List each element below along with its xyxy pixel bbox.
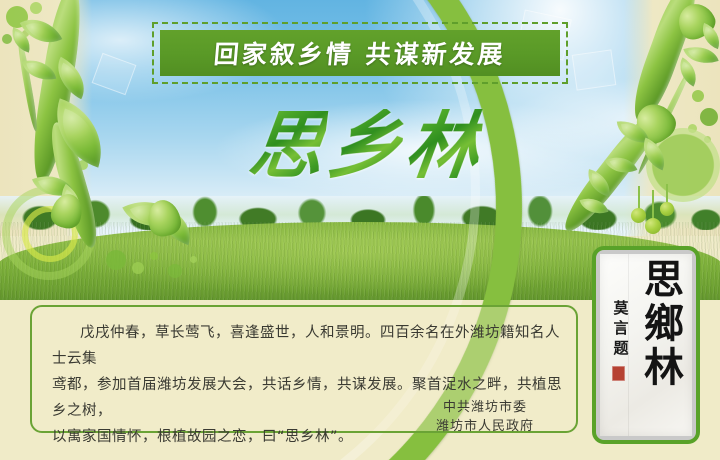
signature-line-1: 中共潍坊市委 [400, 398, 570, 417]
calligraphy-paper: 思鄉林 莫言题 [600, 254, 692, 436]
main-title-char-3: 林 [401, 109, 484, 183]
berry-stalk [666, 184, 668, 204]
main-title: 思 乡 林 [250, 104, 480, 188]
berry-decor [660, 202, 674, 216]
poster-canvas: 回家叙乡情 共谋新发展 思 乡 林 戊戌仲春，草长莺飞，喜逢盛世，人和景明。四百… [0, 0, 720, 460]
body-line-1: 戊戌仲春，草长莺飞，喜逢盛世，人和景明。四百余名在外潍坊籍知名人士云集 [52, 320, 564, 372]
berry-stalk [652, 190, 654, 220]
bubble-decor [700, 108, 718, 126]
berry-decor [645, 218, 661, 234]
banner-slogan: 回家叙乡情 共谋新发展 [213, 35, 508, 71]
sky-hex-decor-2 [572, 49, 617, 90]
signature-line-2: 潍坊市人民政府 [400, 417, 570, 436]
main-title-char-1: 思 [245, 109, 328, 183]
calligraphy-main-text: 思鄉林 [640, 258, 688, 390]
bubble-decor [692, 90, 704, 102]
main-title-char-2: 乡 [323, 109, 406, 183]
calligraphy-attribution: 莫言题 [610, 298, 632, 358]
header-banner: 回家叙乡情 共谋新发展 [160, 30, 560, 76]
berry-stalk [638, 186, 640, 210]
red-seal-stamp [612, 366, 625, 381]
signature-block: 中共潍坊市委 潍坊市人民政府 [400, 398, 570, 436]
berry-decor [631, 208, 646, 223]
calligraphy-card: 思鄉林 莫言题 [592, 246, 700, 444]
